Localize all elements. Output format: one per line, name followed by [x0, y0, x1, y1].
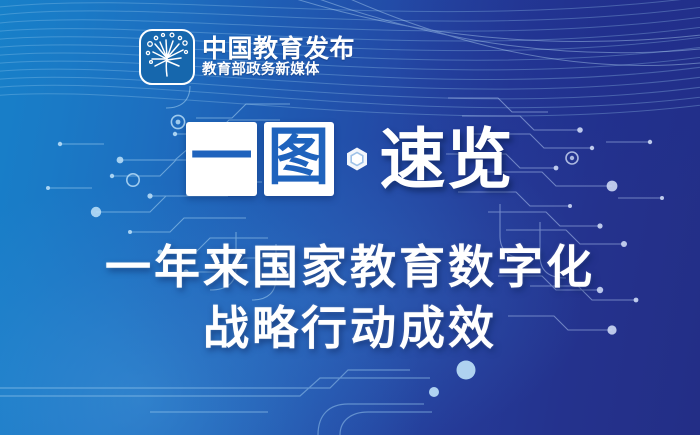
brand-subtitle: 教育部政务新媒体	[202, 63, 355, 79]
brand-logo-text: 中国教育发布 教育部政务新媒体	[202, 36, 355, 79]
subtitle-line-1: 一年来国家教育数字化	[0, 237, 700, 298]
headline-boxed-char-2: 图	[264, 122, 334, 196]
poster-subtitle: 一年来国家教育数字化 战略行动成效	[0, 237, 700, 358]
poster-canvas: 中国教育发布 教育部政务新媒体 一 图 速览 一年来国家教育数字化 战略行动成效	[0, 0, 700, 435]
dandelion-icon	[139, 29, 195, 85]
hexagon-nut-icon-svg	[344, 146, 370, 172]
brand-logo: 中国教育发布 教育部政务新媒体	[139, 29, 355, 85]
headline-boxed-char-1: 一	[186, 122, 256, 196]
headline: 一 图 速览	[0, 118, 700, 200]
brand-name: 中国教育发布	[202, 36, 355, 62]
hexagon-nut-icon	[344, 146, 370, 172]
headline-boxed-group: 一 图	[186, 122, 333, 196]
headline-plain-text: 速览	[380, 126, 514, 192]
dandelion-icon-svg	[141, 31, 193, 83]
subtitle-line-2: 战略行动成效	[0, 298, 700, 359]
